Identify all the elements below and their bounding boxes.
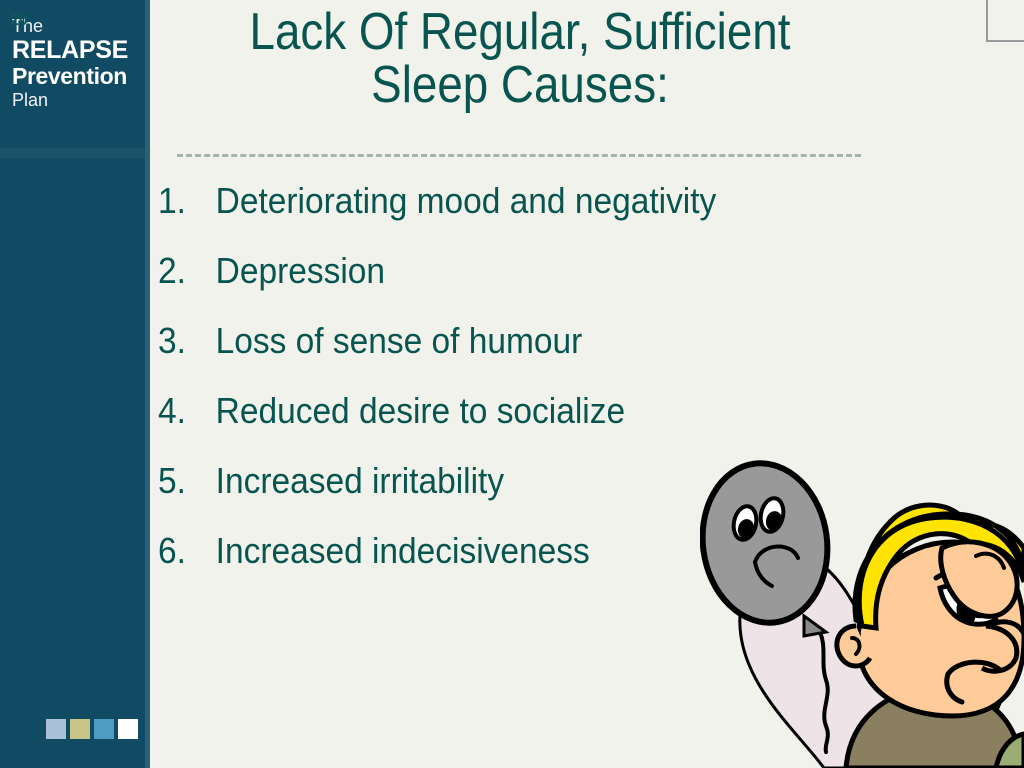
list-item-label: Reduced desire to socialize	[216, 390, 625, 432]
list-item-number: 2.	[158, 250, 216, 292]
page-number-box	[986, 0, 1024, 42]
person-eyebrow	[936, 571, 992, 582]
person-frown-mouth	[948, 662, 1000, 674]
logo-line-prevention: Prevention	[12, 65, 140, 88]
finger-line-2	[988, 622, 1024, 634]
list-item-number: 3.	[158, 320, 216, 362]
list-item: 3. Loss of sense of humour	[158, 320, 828, 390]
list-item: 6. Increased indecisiveness	[158, 530, 828, 600]
tissue	[948, 569, 986, 616]
page-number: 20	[10, 12, 28, 30]
swatch-khaki	[70, 719, 90, 739]
person-eye	[940, 586, 996, 625]
swatch-blue	[94, 719, 114, 739]
list-item: 1. Deteriorating mood and negativity	[158, 180, 828, 250]
person-shoulder-sleeve	[996, 734, 1024, 768]
logo-line-plan: Plan	[12, 91, 140, 109]
balloon-knot	[804, 616, 826, 636]
swatch-light-blue	[46, 719, 66, 739]
swatch-row	[46, 719, 138, 739]
list-item-number: 4.	[158, 390, 216, 432]
list-item-label: Depression	[216, 250, 385, 292]
logo-line-the: The	[12, 17, 140, 35]
finger-line-1	[976, 554, 1004, 568]
sidebar-accent-band	[0, 148, 145, 158]
slide-canvas: The RELAPSE Prevention Plan 20 Lack Of R…	[0, 0, 1024, 768]
balloon-string	[818, 628, 828, 752]
person-hair-back	[855, 505, 1024, 622]
person-neck	[906, 662, 982, 711]
list-item: 2. Depression	[158, 250, 828, 320]
list-item: 5. Increased irritability	[158, 460, 828, 530]
list-item-number: 6.	[158, 530, 216, 572]
swatch-white	[118, 719, 138, 739]
list-item-label: Increased irritability	[216, 460, 504, 502]
page-title: Lack Of Regular, Sufficient Sleep Causes…	[212, 6, 828, 112]
brand-logo: The RELAPSE Prevention Plan	[12, 17, 140, 109]
list-item-label: Loss of sense of humour	[216, 320, 583, 362]
person-mouth-cheek	[947, 674, 962, 702]
list-item-label: Increased indecisiveness	[216, 530, 590, 572]
person-ear-detail	[852, 638, 859, 654]
numbered-list: 1. Deteriorating mood and negativity 2. …	[158, 180, 878, 600]
sidebar-edge-stripe	[145, 0, 150, 768]
title-divider	[177, 154, 861, 157]
person-pupil	[953, 597, 979, 628]
person-hand	[941, 542, 1017, 617]
person-ear	[837, 626, 870, 666]
logo-line-relapse: RELAPSE	[12, 38, 140, 63]
list-item: 4. Reduced desire to socialize	[158, 390, 828, 460]
person-face	[858, 542, 1024, 716]
person-nose	[982, 626, 1017, 671]
sidebar	[0, 0, 145, 768]
person-hair-front	[859, 517, 1024, 628]
person-shirt	[846, 688, 1020, 768]
list-item-number: 1.	[158, 180, 216, 222]
list-item-number: 5.	[158, 460, 216, 502]
list-item-label: Deteriorating mood and negativity	[216, 180, 717, 222]
